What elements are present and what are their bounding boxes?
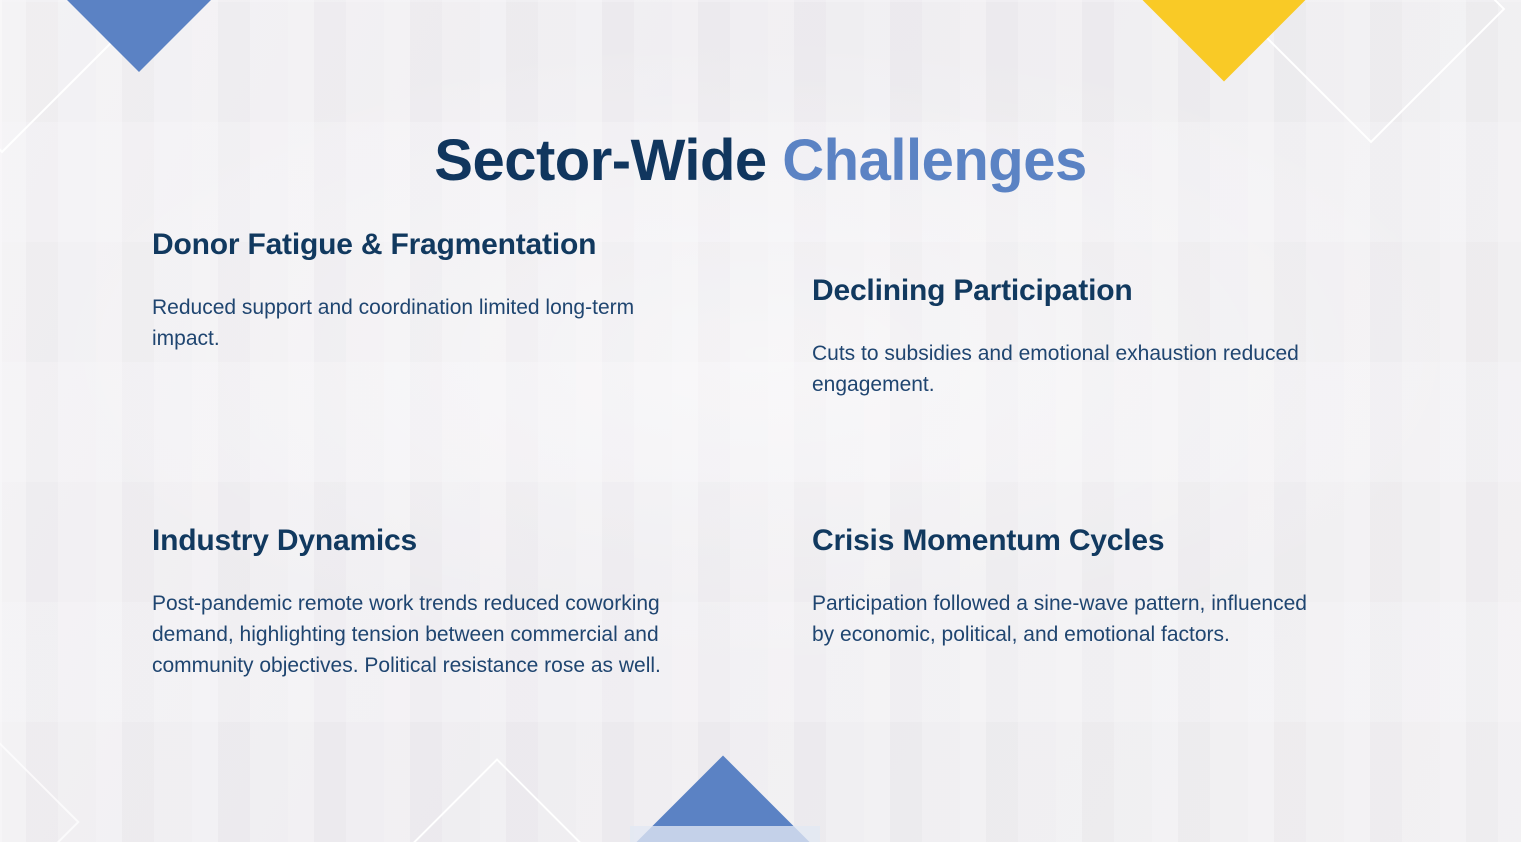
challenge-card-declining-participation: Declining Participation Cuts to subsidie… bbox=[812, 222, 1372, 492]
page-title-main: Sector-Wide bbox=[434, 128, 766, 193]
challenge-body-donor-fatigue: Reduced support and coordination limited… bbox=[152, 293, 672, 355]
challenge-row-1: Donor Fatigue & Fragmentation Reduced su… bbox=[152, 222, 1372, 492]
challenge-body-declining-participation: Cuts to subsidies and emotional exhausti… bbox=[812, 339, 1324, 401]
challenge-body-industry-dynamics: Post-pandemic remote work trends reduced… bbox=[152, 589, 672, 682]
challenge-heading-donor-fatigue: Donor Fatigue & Fragmentation bbox=[152, 222, 772, 267]
challenge-grid: Donor Fatigue & Fragmentation Reduced su… bbox=[152, 222, 1372, 682]
challenge-card-industry-dynamics: Industry Dynamics Post-pandemic remote w… bbox=[152, 518, 812, 682]
challenge-card-donor-fatigue: Donor Fatigue & Fragmentation Reduced su… bbox=[152, 222, 812, 492]
slide-content: Sector-Wide Challenges Donor Fatigue & F… bbox=[0, 0, 1521, 842]
challenge-heading-crisis-momentum: Crisis Momentum Cycles bbox=[812, 518, 1372, 563]
page-title: Sector-Wide Challenges bbox=[0, 131, 1521, 192]
challenge-row-2: Industry Dynamics Post-pandemic remote w… bbox=[152, 518, 1372, 682]
challenge-heading-declining-participation: Declining Participation bbox=[812, 268, 1372, 313]
challenge-heading-industry-dynamics: Industry Dynamics bbox=[152, 518, 772, 563]
page-title-accent: Challenges bbox=[782, 128, 1086, 193]
slide-canvas: Sector-Wide Challenges Donor Fatigue & F… bbox=[0, 0, 1521, 842]
challenge-body-crisis-momentum: Participation followed a sine-wave patte… bbox=[812, 589, 1324, 651]
challenge-card-crisis-momentum: Crisis Momentum Cycles Participation fol… bbox=[812, 518, 1372, 682]
